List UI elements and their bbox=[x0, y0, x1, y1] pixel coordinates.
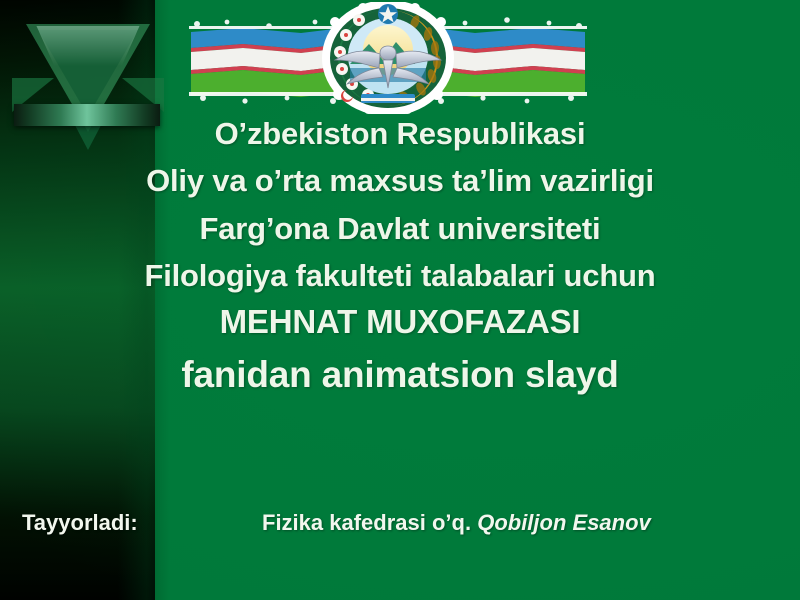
credit-role: Fizika kafedrasi o’q. bbox=[262, 510, 471, 535]
credit-label: Tayyorladi: bbox=[22, 506, 138, 540]
headline-slide-type: fanidan animatsion slayd bbox=[0, 356, 800, 393]
presentation-title-slide: O’zbekiston Respublikasi Oliy va o’rta m… bbox=[0, 0, 800, 600]
credit-body: Fizika kafedrasi o’q. Qobiljon Esanov bbox=[262, 506, 651, 540]
author-credit: Tayyorladi: Fizika kafedrasi o’q. Qobilj… bbox=[0, 506, 800, 540]
title-text-block: O’zbekiston Respublikasi Oliy va o’rta m… bbox=[0, 118, 800, 393]
headline-audience: Filologiya fakulteti talabalari uchun bbox=[0, 260, 800, 291]
uzbekistan-emblem-icon bbox=[183, 2, 593, 114]
headline-ministry: Oliy va o’rta maxsus ta’lim vazirligi bbox=[0, 165, 800, 196]
credit-author-name: Qobiljon Esanov bbox=[477, 510, 651, 535]
headline-subject: MEHNAT MUXOFAZASI bbox=[0, 305, 800, 338]
headline-country: O’zbekiston Respublikasi bbox=[0, 118, 800, 149]
headline-university: Farg’ona Davlat universiteti bbox=[0, 213, 800, 244]
